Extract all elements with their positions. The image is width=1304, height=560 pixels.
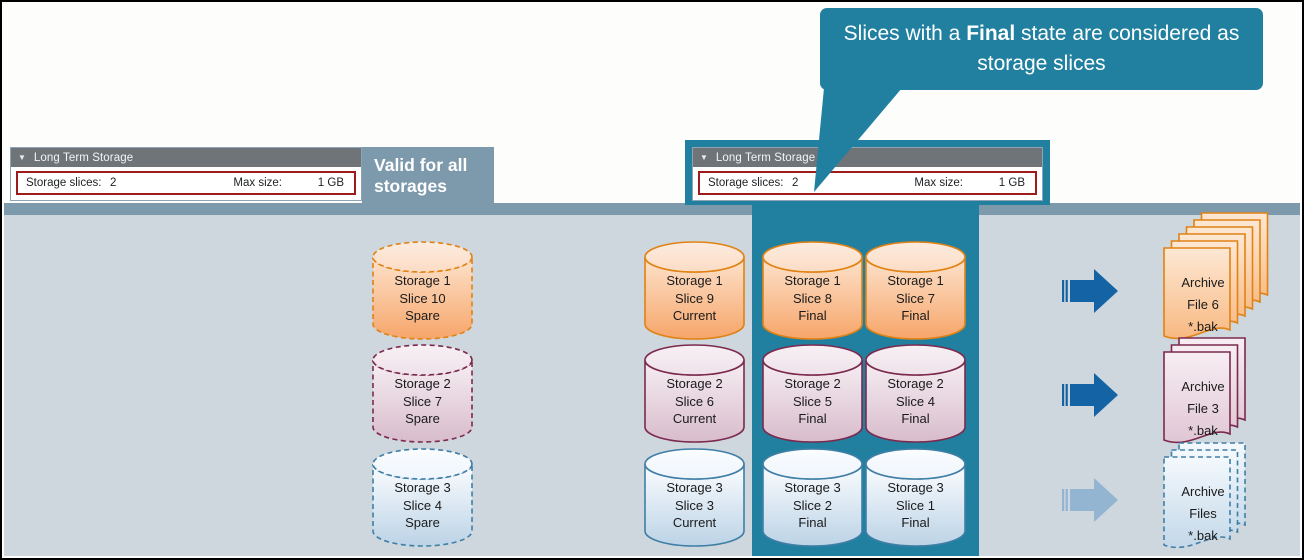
archive-file-stack[interactable]: ArchiveFiles*.bak	[1152, 443, 1257, 558]
panel-header-left[interactable]: ▼ Long Term Storage	[11, 148, 361, 167]
cylinder-label-line3: Final	[865, 410, 966, 428]
max-size-label: Max size:	[233, 177, 282, 189]
chevron-down-icon[interactable]: ▼	[700, 154, 708, 162]
cylinder-label: Storage 2Slice 6Current	[644, 375, 745, 428]
cylinder-label-line3: Current	[644, 307, 745, 325]
cylinder-label-line1: Storage 2	[865, 375, 966, 393]
chevron-down-icon[interactable]: ▼	[18, 154, 26, 162]
archive-flow-arrow-icon	[1060, 470, 1122, 530]
cylinder-label-line3: Final	[865, 307, 966, 325]
callout-text-before: Slices with a	[844, 22, 967, 45]
cylinder-label-line3: Current	[644, 410, 745, 428]
cylinder-final-b-row2[interactable]: Storage 2Slice 4Final	[865, 345, 966, 443]
storage-slices-label: Storage slices:	[708, 177, 792, 189]
archive-file-stack[interactable]: ArchiveFile 3*.bak	[1152, 338, 1257, 453]
cylinder-final-a-row3[interactable]: Storage 3Slice 2Final	[762, 449, 863, 547]
cylinder-label-line3: Final	[762, 410, 863, 428]
cylinder-spare-row3[interactable]: Storage 3Slice 4Spare	[372, 449, 473, 547]
callout-text: Slices with a Final state are considered…	[820, 19, 1263, 79]
cylinder-label: Storage 2Slice 4Final	[865, 375, 966, 428]
cylinder-label-line2: Slice 2	[762, 497, 863, 515]
cylinder-label-line2: Slice 7	[372, 393, 473, 411]
cylinder-label-line2: Slice 7	[865, 290, 966, 308]
archive-label-line1: Archive	[1166, 272, 1240, 294]
diagram-canvas: ▼ Long Term Storage Storage slices: 2 Ma…	[0, 0, 1304, 560]
cylinder-label: Storage 3Slice 4Spare	[372, 479, 473, 532]
archive-label: ArchiveFile 6*.bak	[1166, 272, 1240, 338]
archive-label-line2: File 3	[1166, 398, 1240, 420]
storage-slices-value[interactable]: 2	[792, 177, 912, 189]
cylinder-spare-row2[interactable]: Storage 2Slice 7Spare	[372, 345, 473, 443]
cylinder-label-line2: Slice 3	[644, 497, 745, 515]
cylinder-label-line1: Storage 3	[865, 479, 966, 497]
long-term-storage-panel-left[interactable]: ▼ Long Term Storage Storage slices: 2 Ma…	[10, 147, 362, 201]
panel-body-right: Storage slices: 2 Max size: 1 GB	[693, 167, 1042, 200]
cylinder-label: Storage 1Slice 7Final	[865, 272, 966, 325]
archive-label-line2: Files	[1166, 503, 1240, 525]
archive-label: ArchiveFile 3*.bak	[1166, 376, 1240, 442]
cylinder-label-line2: Slice 4	[865, 393, 966, 411]
panel-title: Long Term Storage	[34, 152, 133, 164]
archive-label-line3: *.bak	[1166, 316, 1240, 338]
cylinder-label-line1: Storage 1	[865, 272, 966, 290]
cylinder-label-line1: Storage 2	[372, 375, 473, 393]
cylinder-final-b-row1[interactable]: Storage 1Slice 7Final	[865, 242, 966, 340]
cylinder-label-line3: Spare	[372, 307, 473, 325]
cylinder-label: Storage 1Slice 8Final	[762, 272, 863, 325]
cylinder-label: Storage 2Slice 5Final	[762, 375, 863, 428]
cylinder-label: Storage 3Slice 2Final	[762, 479, 863, 532]
cylinder-label-line2: Slice 5	[762, 393, 863, 411]
cylinder-label: Storage 1Slice 9Current	[644, 272, 745, 325]
cylinder-label-line1: Storage 3	[762, 479, 863, 497]
archive-label-line2: File 6	[1166, 294, 1240, 316]
archive-label-line1: Archive	[1166, 481, 1240, 503]
valid-for-all-storages-note: Valid for all storages	[362, 147, 494, 204]
cylinder-current-row3[interactable]: Storage 3Slice 3Current	[644, 449, 745, 547]
cylinder-label-line1: Storage 3	[372, 479, 473, 497]
cylinder-label-line1: Storage 1	[372, 272, 473, 290]
cylinder-label: Storage 2Slice 7Spare	[372, 375, 473, 428]
cylinder-label-line1: Storage 1	[762, 272, 863, 290]
cylinder-label-line3: Final	[762, 307, 863, 325]
cylinder-label-line2: Slice 6	[644, 393, 745, 411]
cylinder-label-line1: Storage 2	[644, 375, 745, 393]
panel-title: Long Term Storage	[716, 152, 815, 164]
callout-text-after: state are considered as storage slices	[977, 22, 1239, 75]
cylinder-final-b-row3[interactable]: Storage 3Slice 1Final	[865, 449, 966, 547]
long-term-storage-panel-right[interactable]: ▼ Long Term Storage Storage slices: 2 Ma…	[692, 147, 1043, 201]
cylinder-label-line3: Spare	[372, 514, 473, 532]
callout-text-bold: Final	[966, 22, 1015, 45]
max-size-value[interactable]: 1 GB	[282, 177, 344, 189]
cylinder-current-row1[interactable]: Storage 1Slice 9Current	[644, 242, 745, 340]
cylinder-label-line2: Slice 8	[762, 290, 863, 308]
cylinder-label-line2: Slice 9	[644, 290, 745, 308]
cylinder-label-line1: Storage 3	[644, 479, 745, 497]
max-size-label: Max size:	[914, 177, 963, 189]
cylinder-label-line2: Slice 10	[372, 290, 473, 308]
panel-header-right[interactable]: ▼ Long Term Storage	[693, 148, 1042, 167]
cylinder-label: Storage 1Slice 10Spare	[372, 272, 473, 325]
cylinder-label-line3: Final	[865, 514, 966, 532]
cylinder-label-line1: Storage 2	[762, 375, 863, 393]
cylinder-final-a-row1[interactable]: Storage 1Slice 8Final	[762, 242, 863, 340]
cylinder-label: Storage 3Slice 3Current	[644, 479, 745, 532]
max-size-value[interactable]: 1 GB	[963, 177, 1025, 189]
archive-flow-arrow-icon	[1060, 261, 1122, 321]
archive-file-stack[interactable]: ArchiveFile 6*.bak	[1152, 234, 1257, 349]
storage-slices-value[interactable]: 2	[110, 177, 230, 189]
archive-label: ArchiveFiles*.bak	[1166, 481, 1240, 547]
stage-top-band	[4, 203, 1300, 215]
archive-label-line1: Archive	[1166, 376, 1240, 398]
cylinder-label-line2: Slice 1	[865, 497, 966, 515]
cylinder-label-line1: Storage 1	[644, 272, 745, 290]
long-term-storage-panel-right-frame: ▼ Long Term Storage Storage slices: 2 Ma…	[685, 140, 1050, 205]
cylinder-label-line3: Final	[762, 514, 863, 532]
cylinder-label-line2: Slice 4	[372, 497, 473, 515]
callout-bubble: Slices with a Final state are considered…	[820, 8, 1263, 90]
panel-body-left: Storage slices: 2 Max size: 1 GB	[11, 167, 361, 200]
storage-slices-label: Storage slices:	[26, 177, 110, 189]
cylinder-final-a-row2[interactable]: Storage 2Slice 5Final	[762, 345, 863, 443]
cylinder-spare-row1[interactable]: Storage 1Slice 10Spare	[372, 242, 473, 340]
storage-slices-field-row-left: Storage slices: 2 Max size: 1 GB	[16, 171, 356, 195]
cylinder-label: Storage 3Slice 1Final	[865, 479, 966, 532]
cylinder-label-line3: Spare	[372, 410, 473, 428]
archive-label-line3: *.bak	[1166, 420, 1240, 442]
archive-flow-arrow-icon	[1060, 365, 1122, 425]
cylinder-label-line3: Current	[644, 514, 745, 532]
archive-label-line3: *.bak	[1166, 525, 1240, 547]
storage-slices-field-row-right: Storage slices: 2 Max size: 1 GB	[698, 171, 1037, 195]
cylinder-current-row2[interactable]: Storage 2Slice 6Current	[644, 345, 745, 443]
